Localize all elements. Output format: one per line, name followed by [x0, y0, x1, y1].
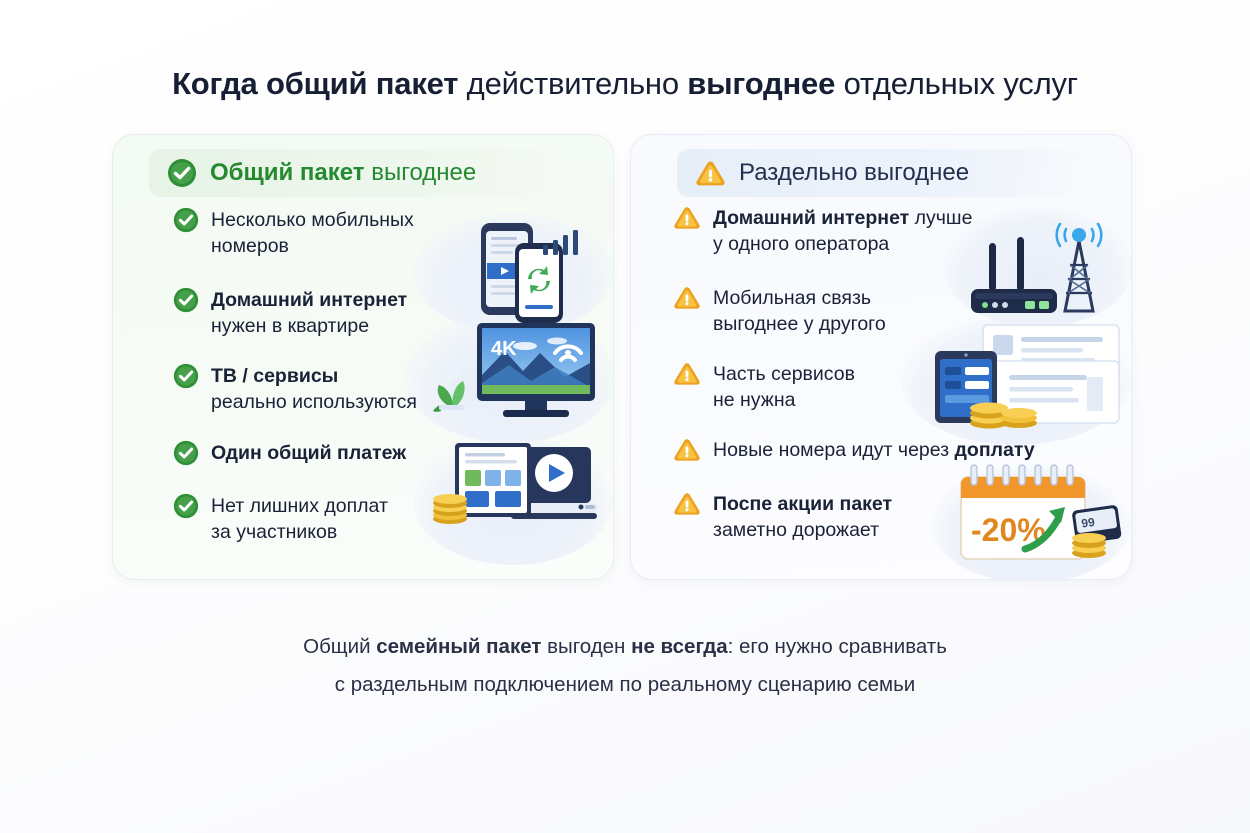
list-item-text: Часть сервисов не нужна [713, 361, 855, 413]
page-title: Когда общий пакет действительно выгоднее… [0, 64, 1250, 104]
infographic-canvas: Когда общий пакет действительно выгоднее… [0, 0, 1250, 833]
list-item-line-1: Несколько мобильных [211, 207, 414, 233]
list-item-text: Нет лишних доплат за участников [211, 493, 388, 545]
list-item-text: ТВ / сервисы реально используются [211, 363, 417, 415]
check-circle-icon [173, 440, 199, 466]
list-item[interactable]: Домашний интернет лучше у одного операто… [673, 205, 972, 257]
list-item[interactable]: Часть сервисов не нужна [673, 361, 855, 413]
panel-advantages: Общий пакет выгоднее [112, 134, 614, 580]
list-item-line-2: выгоднее у другого [713, 311, 886, 337]
title-part-3: выгоднее [687, 66, 835, 101]
warning-triangle-icon [673, 361, 701, 387]
footer-line-2: с раздельным подключением по реальному с… [0, 666, 1250, 704]
list-item-text: Домашний интернет лучше у одного операто… [713, 205, 972, 257]
warning-triangle-icon [673, 437, 701, 463]
list-item-text: Один общий платеж [211, 440, 406, 466]
list-item-line-1: Нет лишних доплат [211, 493, 388, 519]
warning-triangle-icon [673, 491, 701, 517]
check-circle-icon [173, 287, 199, 313]
panel-drawbacks: Раздельно выгоднее [630, 134, 1132, 580]
list-item[interactable]: Один общий платеж [173, 440, 406, 466]
footer-line-1-d: не всегда [631, 635, 728, 658]
footer-note: Общий семейный пакет выгоден не всегда: … [0, 628, 1250, 704]
list-item-line-2: реально используются [211, 389, 417, 415]
list-item-line-1-tail: лучше [909, 207, 972, 229]
list-item-line-2: заметно дорожает [713, 517, 892, 543]
list-item-line-2: не нужна [713, 387, 855, 413]
list-item[interactable]: Домашний интернет нужен в квартире [173, 287, 407, 339]
check-circle-icon [173, 207, 199, 233]
warning-triangle-icon [673, 205, 701, 231]
list-item[interactable]: Нет лишних доплат за участников [173, 493, 388, 545]
list-item-line-1: Домашний интернет лучше [713, 205, 972, 231]
list-item-line-1: Домашний интернет [211, 287, 407, 313]
list-item-text: Поспе акции пакет заметно дорожает [713, 491, 892, 543]
list-item-line-2: у одного оператора [713, 231, 972, 257]
list-item-text: Новые номера идут через доплату [713, 437, 1035, 463]
list-item-line-1: Новые номера идут через доплату [713, 437, 1035, 463]
panel-drawbacks-list: Домашний интернет лучше у одного операто… [631, 135, 1131, 579]
list-item-line-1: Один общий платеж [211, 440, 406, 466]
list-item-line-1: Мобильная связь [713, 285, 886, 311]
list-item-text: Мобильная связь выгоднее у другого [713, 285, 886, 337]
check-circle-icon [173, 493, 199, 519]
warning-triangle-icon [673, 285, 701, 311]
list-item-line-1-bold: доплату [955, 439, 1035, 461]
list-item-line-1: Часть сервисов [713, 361, 855, 387]
title-part-1: Когда общий пакет [172, 66, 458, 101]
footer-line-1-b: семейный пакет [376, 635, 541, 658]
footer-line-1-e: : его нужно сравнивать [728, 635, 947, 658]
list-item-line-1: ТВ / сервисы [211, 363, 417, 389]
list-item-line-2: нужен в квартире [211, 313, 407, 339]
list-item-line-1-regular: Новые номера идут через [713, 439, 955, 461]
list-item[interactable]: Новые номера идут через доплату [673, 437, 1035, 463]
footer-line-1-c: выгоден [541, 635, 631, 658]
footer-line-1: Общий семейный пакет выгоден не всегда: … [0, 628, 1250, 666]
check-circle-icon [173, 363, 199, 389]
list-item[interactable]: Мобильная связь выгоднее у другого [673, 285, 886, 337]
list-item-line-1-bold: Домашний интернет [713, 207, 909, 229]
list-item-line-2: номеров [211, 233, 414, 259]
title-part-2: действительно [458, 66, 687, 101]
list-item[interactable]: Несколько мобильных номеров [173, 207, 414, 259]
list-item-line-1: Поспе акции пакет [713, 491, 892, 517]
list-item-text: Несколько мобильных номеров [211, 207, 414, 259]
list-item-text: Домашний интернет нужен в квартире [211, 287, 407, 339]
panel-advantages-list: Несколько мобильных номеров Домашний инт… [113, 135, 613, 579]
footer-line-1-a: Общий [303, 635, 376, 658]
title-part-4: отдельных услуг [835, 66, 1078, 101]
list-item-line-2: за участников [211, 519, 388, 545]
list-item[interactable]: Поспе акции пакет заметно дорожает [673, 491, 892, 543]
list-item[interactable]: ТВ / сервисы реально используются [173, 363, 417, 415]
